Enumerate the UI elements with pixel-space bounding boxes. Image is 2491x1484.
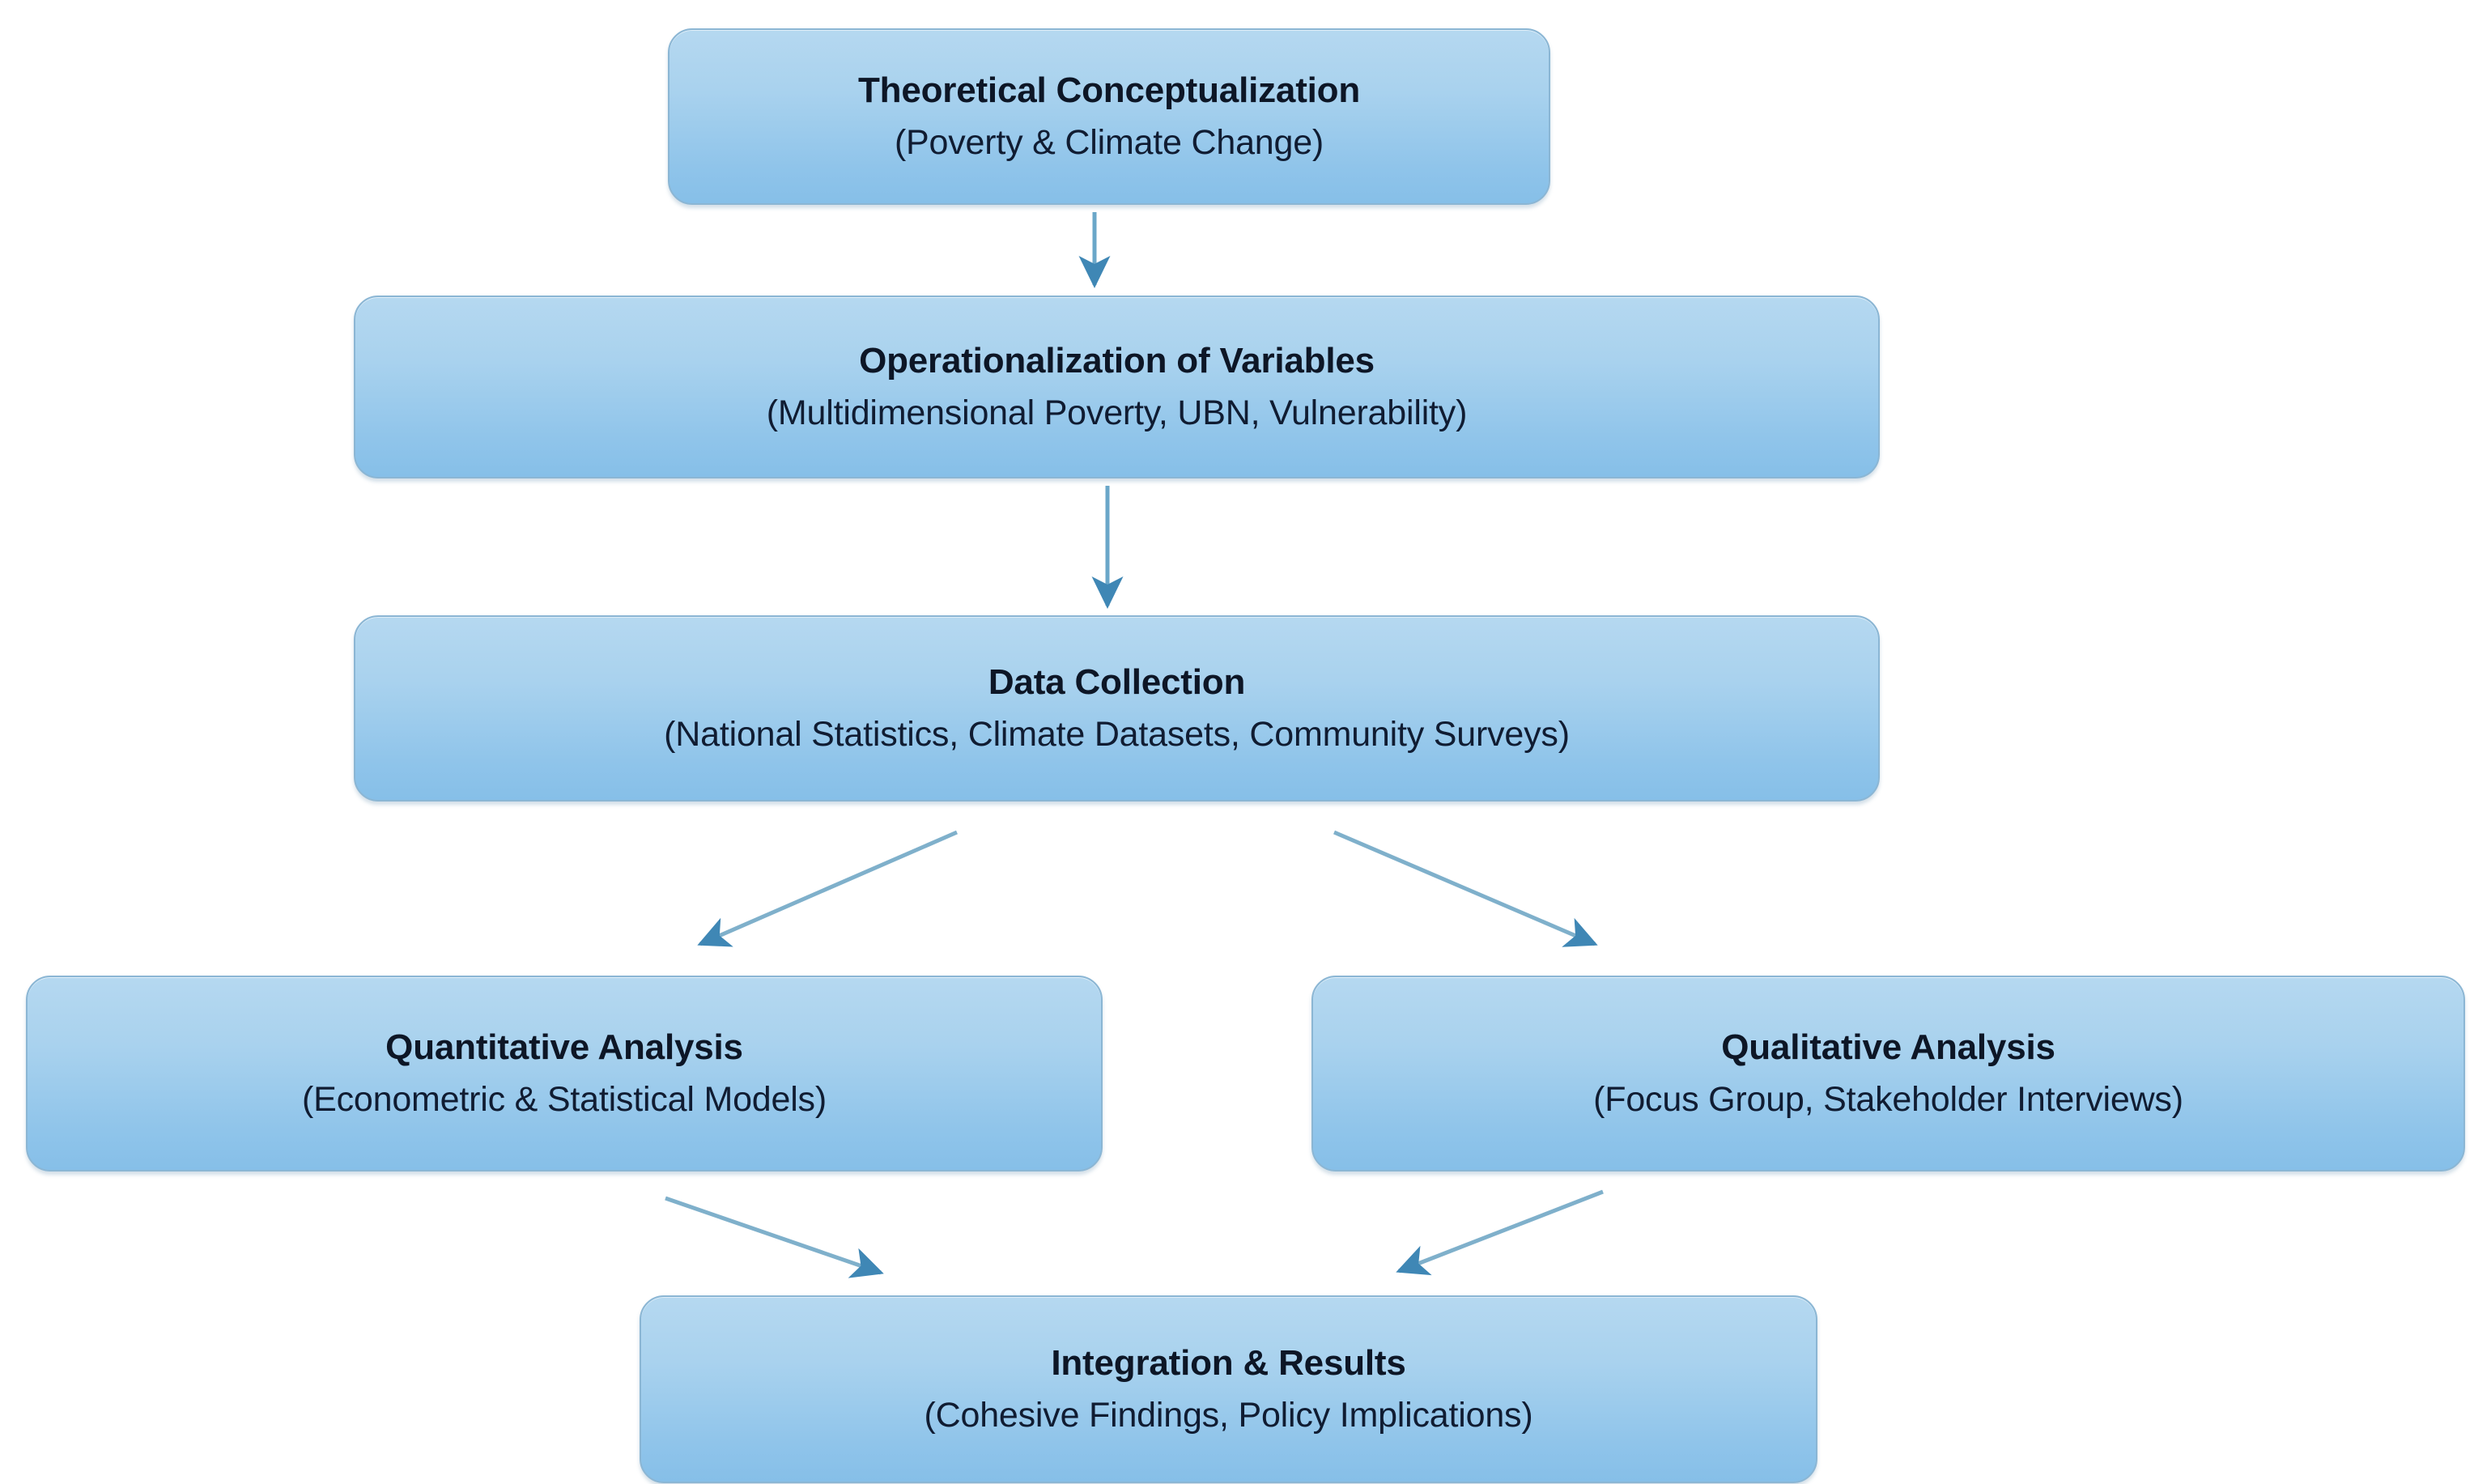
node-subtitle: (Cohesive Findings, Policy Implications) (925, 1393, 1533, 1438)
node-integration-and-results[interactable]: Integration & Results (Cohesive Findings… (640, 1295, 1817, 1483)
node-title: Data Collection (988, 660, 1245, 705)
node-subtitle: (Focus Group, Stakeholder Interviews) (1593, 1078, 2183, 1122)
node-operationalization-of-variables[interactable]: Operationalization of Variables (Multidi… (354, 296, 1880, 478)
flowchart-canvas: Theoretical Conceptualization (Poverty &… (0, 0, 2491, 1484)
node-subtitle: (Econometric & Statistical Models) (302, 1078, 827, 1122)
node-theoretical-conceptualization[interactable]: Theoretical Conceptualization (Poverty &… (668, 28, 1550, 205)
edge-data-collection-to-quantitative (700, 832, 957, 944)
node-subtitle: (Poverty & Climate Change) (895, 121, 1324, 165)
node-title: Qualitative Analysis (1721, 1025, 2055, 1070)
node-data-collection[interactable]: Data Collection (National Statistics, Cl… (354, 615, 1880, 802)
node-title: Integration & Results (1051, 1341, 1405, 1386)
node-qualitative-analysis[interactable]: Qualitative Analysis (Focus Group, Stake… (1311, 976, 2465, 1171)
node-title: Operationalization of Variables (859, 338, 1375, 384)
node-title: Quantitative Analysis (385, 1025, 743, 1070)
edge-quantitative-to-integration (665, 1198, 881, 1273)
node-quantitative-analysis[interactable]: Quantitative Analysis (Econometric & Sta… (26, 976, 1103, 1171)
node-title: Theoretical Conceptualization (858, 68, 1360, 113)
edge-data-collection-to-qualitative (1334, 832, 1595, 944)
edge-qualitative-to-integration (1399, 1192, 1603, 1271)
node-subtitle: (Multidimensional Poverty, UBN, Vulnerab… (767, 391, 1467, 436)
node-subtitle: (National Statistics, Climate Datasets, … (664, 712, 1570, 757)
